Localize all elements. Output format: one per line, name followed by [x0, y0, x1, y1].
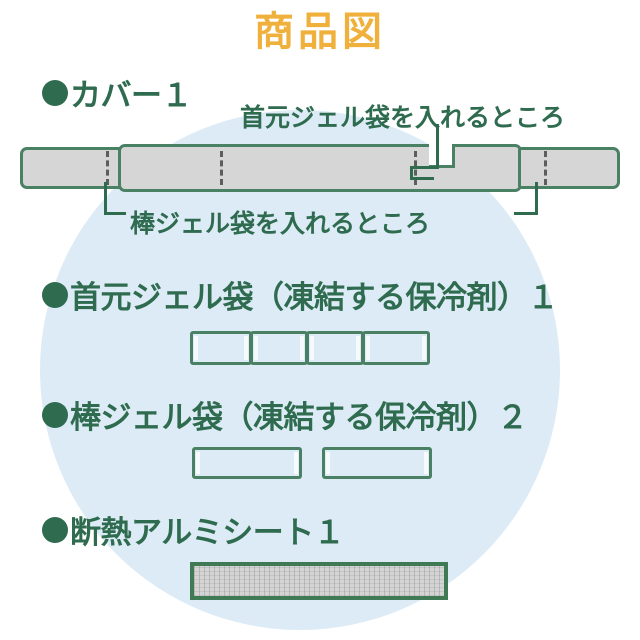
- gel-pouch: [190, 331, 252, 365]
- section-label-cover: カバー１: [70, 70, 192, 115]
- leader-line-stick-left-horizontal: [104, 212, 126, 215]
- product-diagram: 商品図 カバー１ 首元ジェル袋を入れるところ 棒ジェル袋を入れるところ 首元ジェ…: [0, 0, 640, 640]
- section-label-neck-gel: 首元ジェル袋（凍結する保冷剤）１: [70, 272, 558, 317]
- leader-line-stick-right-vertical: [535, 182, 538, 215]
- cover-neck-pocket-notch: [429, 144, 455, 168]
- leader-line-neck-vertical: [436, 124, 439, 168]
- section-heading-cover: カバー１: [42, 70, 192, 115]
- stick-gel-bag-1: [192, 447, 302, 479]
- cover-seam-dashed-1: [106, 151, 109, 185]
- bullet-icon: [42, 80, 68, 106]
- aluminum-sheet-illustration: [190, 562, 448, 600]
- section-heading-stick-gel: 棒ジェル袋（凍結する保冷剤）２: [42, 392, 528, 437]
- leader-line-neck-horizontal-2: [410, 177, 434, 180]
- section-label-alumi-sheet: 断熱アルミシート１: [70, 507, 344, 552]
- leader-line-neck-horizontal: [410, 166, 439, 169]
- cover-segment-right: [518, 147, 620, 189]
- cover-segment-center: [118, 144, 522, 192]
- neck-gel-bag-illustration: [190, 331, 430, 365]
- gel-pouch: [306, 331, 364, 365]
- leader-line-stick-right-horizontal: [514, 212, 538, 215]
- section-heading-alumi-sheet: 断熱アルミシート１: [42, 507, 344, 552]
- stick-gel-bag-2: [322, 447, 432, 479]
- section-label-stick-gel: 棒ジェル袋（凍結する保冷剤）２: [70, 392, 528, 437]
- page-title: 商品図: [0, 10, 640, 54]
- callout-neck-pocket: 首元ジェル袋を入れるところ: [240, 98, 565, 134]
- cover-illustration: [20, 147, 620, 189]
- gel-pouch: [250, 331, 308, 365]
- bullet-icon: [42, 402, 68, 428]
- cover-seam-dashed-4: [544, 151, 547, 185]
- leader-line-stick-left-vertical: [104, 182, 107, 215]
- bullet-icon: [42, 282, 68, 308]
- section-heading-neck-gel: 首元ジェル袋（凍結する保冷剤）１: [42, 272, 558, 317]
- callout-stick-pocket: 棒ジェル袋を入れるところ: [130, 204, 430, 240]
- bullet-icon: [42, 517, 68, 543]
- cover-seam-dashed-2: [220, 151, 223, 185]
- gel-pouch: [362, 331, 430, 365]
